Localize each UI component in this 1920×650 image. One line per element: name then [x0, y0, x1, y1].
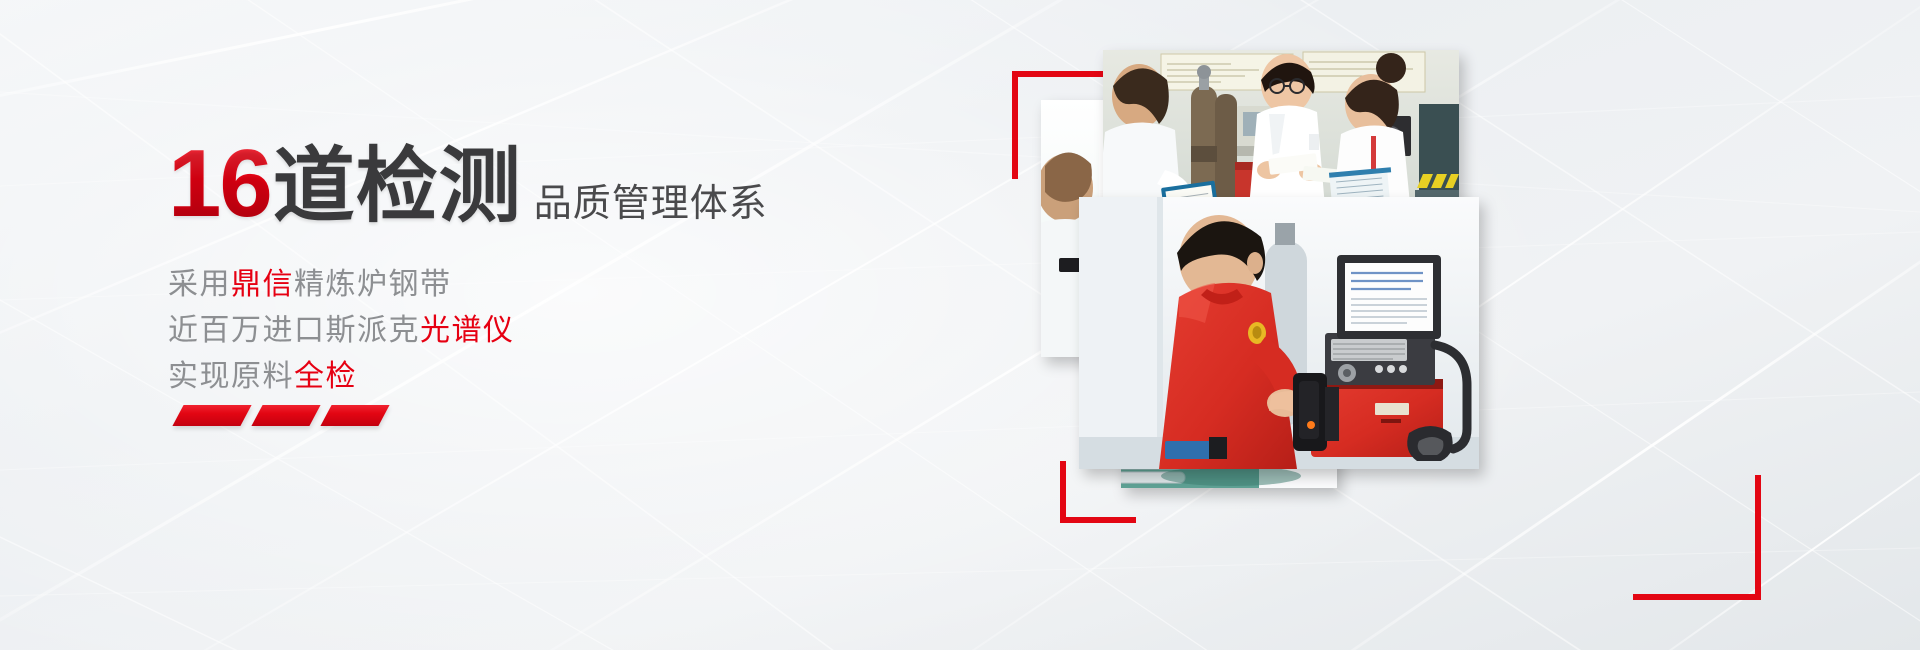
- red-slash-decoration: [178, 405, 384, 426]
- body-copy-line-2: 近百万进口斯派克光谱仪: [168, 308, 868, 354]
- slash-icon-2: [251, 405, 320, 426]
- headline: 16 道检测 品质管理体系: [168, 140, 868, 228]
- bracket-br-vertical: [1755, 475, 1761, 600]
- line3-pre: 实现原料: [168, 360, 294, 393]
- line1-pre: 采用: [168, 268, 231, 301]
- headline-subtitle: 品质管理体系: [534, 185, 768, 228]
- line1-highlight: 鼎信: [231, 268, 294, 301]
- slash-icon-1: [172, 405, 251, 426]
- headline-main: 道检测: [273, 146, 522, 228]
- body-copy-line-3: 实现原料全检: [168, 354, 868, 400]
- photo-spectrometer-operation: [1079, 197, 1479, 469]
- corner-bracket-bottom-right: [1633, 475, 1761, 600]
- headline-block: 16 道检测 品质管理体系 采用鼎信精炼炉钢带 近百万进口斯派克光谱仪 实现原料…: [168, 140, 868, 399]
- body-copy-list: 采用鼎信精炼炉钢带 近百万进口斯派克光谱仪 实现原料全检: [168, 262, 868, 399]
- line1-post: 精炼炉钢带: [294, 268, 452, 301]
- bracket-br-horizontal: [1633, 594, 1761, 600]
- bracket-bl-vertical: [1060, 461, 1066, 523]
- line2-pre: 近百万进口斯派克: [168, 314, 420, 347]
- line2-highlight: 光谱仪: [420, 314, 515, 347]
- bracket-tl-vertical: [1012, 71, 1018, 179]
- line3-highlight: 全检: [294, 360, 357, 393]
- body-copy-line-1: 采用鼎信精炼炉钢带: [168, 262, 868, 308]
- headline-number: 16: [168, 140, 271, 228]
- quality-inspection-banner: 16 道检测 品质管理体系 采用鼎信精炼炉钢带 近百万进口斯派克光谱仪 实现原料…: [0, 0, 1920, 650]
- slash-icon-3: [320, 405, 389, 426]
- bracket-bl-horizontal: [1060, 517, 1136, 523]
